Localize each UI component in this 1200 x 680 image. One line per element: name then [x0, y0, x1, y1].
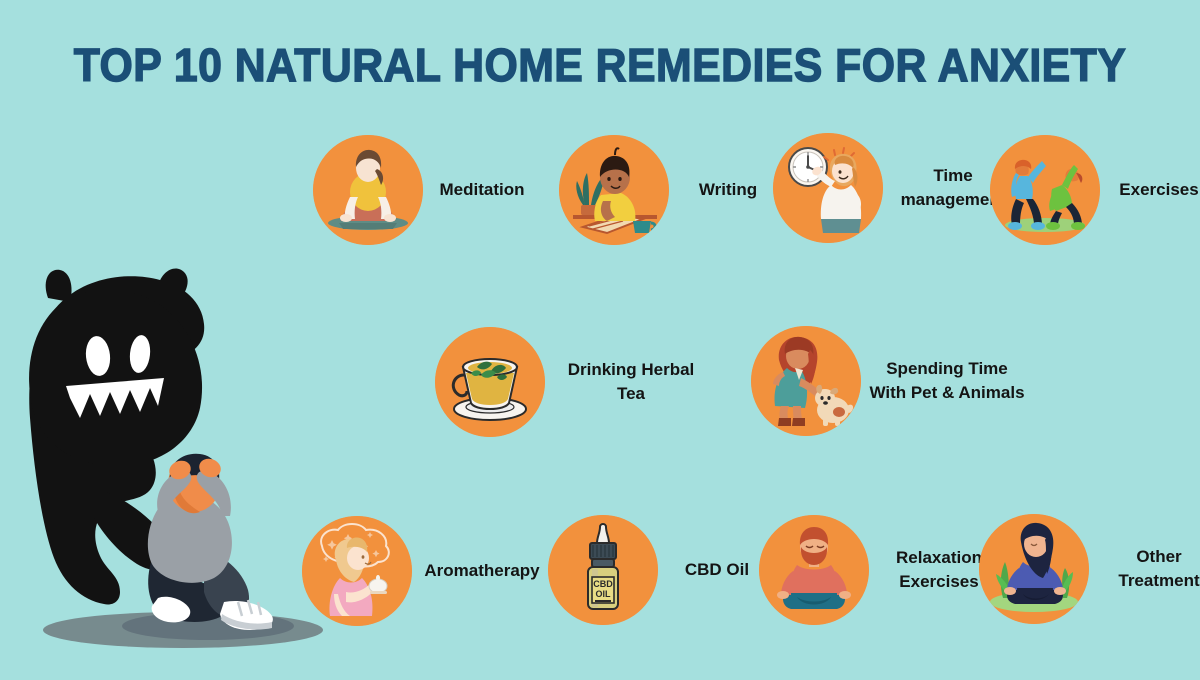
two-people-stretching-icon [990, 135, 1100, 245]
page-title: TOP 10 NATURAL HOME REMEDIES FOR ANXIETY [42, 38, 1158, 92]
person-writing-icon [559, 135, 669, 245]
remedy-item-other-treatment[interactable]: Other Treatment [979, 514, 1200, 624]
remedy-item-writing[interactable]: Writing [559, 135, 787, 245]
woman-with-aroma-diffuser-icon [302, 516, 412, 626]
herbal-tea-cup-icon [435, 327, 545, 437]
remedy-label-aromatherapy: Aromatherapy [412, 559, 552, 583]
remedy-label-meditation: Meditation [423, 178, 541, 202]
remedy-item-relaxation-exercises[interactable]: Relaxation Exercises [759, 515, 1009, 625]
cbd-bottle-text-line2: OIL [596, 589, 612, 599]
woman-with-clock-icon [773, 133, 883, 243]
remedy-label-writing: Writing [669, 178, 787, 202]
remedy-label-drinking-herbal-tea: Drinking Herbal Tea [545, 358, 717, 406]
remedy-item-time-management[interactable]: Time management [773, 133, 1023, 243]
remedy-item-meditation[interactable]: Meditation [313, 135, 541, 245]
woman-meditating-with-plants-icon [979, 514, 1089, 624]
cbd-oil-bottle-icon: CBD OIL [548, 515, 658, 625]
remedy-label-spending-time-with-pets: Spending Time With Pet & Animals [861, 357, 1033, 405]
remedy-item-cbd-oil[interactable]: CBD OIL CBD Oil [548, 515, 776, 625]
remedy-item-spending-time-with-pets[interactable]: Spending Time With Pet & Animals [751, 326, 1033, 436]
anxiety-monster-illustration [8, 258, 348, 658]
remedy-item-aromatherapy[interactable]: Aromatherapy [302, 516, 552, 626]
remedy-item-drinking-herbal-tea[interactable]: Drinking Herbal Tea [435, 327, 717, 437]
cbd-bottle-text-line1: CBD [593, 579, 613, 589]
remedy-item-exercises[interactable]: Exercises [990, 135, 1200, 245]
girl-petting-dog-icon [751, 326, 861, 436]
meditating-woman-icon [313, 135, 423, 245]
bearded-man-meditating-icon [759, 515, 869, 625]
remedy-label-exercises: Exercises [1100, 178, 1200, 202]
infographic-canvas: TOP 10 NATURAL HOME REMEDIES FOR ANXIETY [0, 0, 1200, 680]
remedy-label-other-treatment: Other Treatment [1089, 545, 1200, 593]
